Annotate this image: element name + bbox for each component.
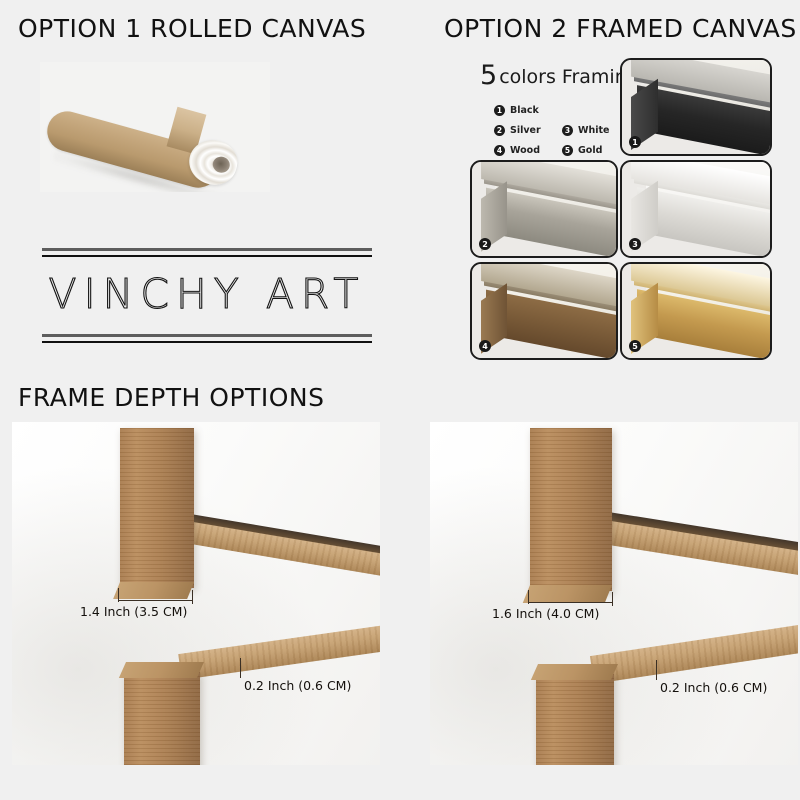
legend-item-black: 1 Black [494, 105, 562, 116]
product-infographic: OPTION 1 ROLLED CANVAS VINCHY ART OPTION… [0, 0, 800, 800]
frame-corner-photo [622, 162, 770, 256]
depth-dimension-label-left: 1.4 Inch (3.5 CM) [80, 604, 187, 619]
heading-frame-depth-options: FRAME DEPTH OPTIONS [18, 383, 324, 412]
dim-tick-thickness [240, 658, 241, 678]
thickness-dimension-label-right: 0.2 Inch (0.6 CM) [660, 680, 767, 695]
frame-stile-bottom-face-upper [113, 582, 194, 599]
frame-swatch-white[interactable]: 3 [620, 160, 772, 258]
framing-title: 5colors Framing [480, 60, 639, 91]
swatch-number-badge: 4 [479, 340, 491, 352]
frame-stile-upper [120, 428, 194, 588]
swatch-number-badge: 2 [479, 238, 491, 250]
frame-corner-photo [622, 60, 770, 154]
frame-swatch-black[interactable]: 1 [620, 58, 772, 156]
brand-logo-block: VINCHY ART [42, 246, 372, 356]
legend-label: White [578, 125, 609, 136]
legend-label: Gold [578, 145, 602, 156]
frame-corner-photo [622, 264, 770, 358]
legend-label: Silver [510, 125, 541, 136]
legend-number-badge: 2 [494, 125, 505, 136]
thickness-dimension-label-left: 0.2 Inch (0.6 CM) [244, 678, 351, 693]
swatch-number-badge: 5 [629, 340, 641, 352]
rolled-canvas-photo [40, 62, 270, 192]
brand-name: VINCHY ART [42, 270, 372, 318]
dim-line-depth [118, 600, 192, 601]
frame-stile-top-face-lower [119, 662, 204, 678]
framing-count: 5 [480, 60, 497, 91]
frame-swatch-wood[interactable]: 4 [470, 262, 618, 360]
wall-background [430, 422, 798, 765]
frame-stile-lower [124, 672, 200, 765]
logo-rule-top-thin [42, 255, 372, 257]
frame-corner-photo [472, 162, 616, 256]
legend-number-badge: 5 [562, 145, 573, 156]
legend-row: 1 Black [494, 104, 634, 117]
frame-corner-photo [472, 264, 616, 358]
legend-label: Black [510, 105, 539, 116]
frame-stile-upper [530, 428, 612, 591]
legend-item-wood: 4 Wood [494, 145, 562, 156]
legend-row: 2 Silver 3 White [494, 124, 634, 137]
legend-number-badge: 4 [494, 145, 505, 156]
legend-number-badge: 1 [494, 105, 505, 116]
frame-stile-lower [536, 674, 614, 765]
dim-tick-right [612, 592, 613, 606]
logo-rule-bottom-thin [42, 341, 372, 343]
swatch-number-badge: 3 [629, 238, 641, 250]
logo-rule-top-thick [42, 248, 372, 251]
legend-row: 4 Wood 5 Gold [494, 144, 634, 157]
frame-stile-top-face-lower [531, 664, 618, 680]
dim-tick-right [192, 590, 193, 604]
legend-item-silver: 2 Silver [494, 125, 562, 136]
color-legend: 1 Black 2 Silver 3 White 4 Wood [494, 104, 634, 164]
legend-label: Wood [510, 145, 540, 156]
dim-tick-thickness [656, 660, 657, 680]
dim-line-depth [528, 602, 612, 603]
framing-title-rest: colors Framing [499, 66, 639, 88]
frame-swatch-silver[interactable]: 2 [470, 160, 618, 258]
framing-colors-group: 5colors Framing 1 Black 2 Silver 3 White [468, 58, 778, 358]
frame-depth-photo-left: 1.4 Inch (3.5 CM) 0.2 Inch (0.6 CM) [12, 422, 380, 765]
legend-number-badge: 3 [562, 125, 573, 136]
frame-swatch-gold[interactable]: 5 [620, 262, 772, 360]
heading-option-1-rolled-canvas: OPTION 1 ROLLED CANVAS [18, 14, 366, 43]
frame-stile-bottom-face-upper [523, 585, 612, 603]
logo-rule-bottom-thick [42, 334, 372, 337]
frame-depth-photo-right: 1.6 Inch (4.0 CM) 0.2 Inch (0.6 CM) [430, 422, 798, 765]
depth-dimension-label-right: 1.6 Inch (4.0 CM) [492, 606, 599, 621]
swatch-number-badge: 1 [629, 136, 641, 148]
heading-option-2-framed-canvas: OPTION 2 FRAMED CANVAS [444, 14, 797, 43]
